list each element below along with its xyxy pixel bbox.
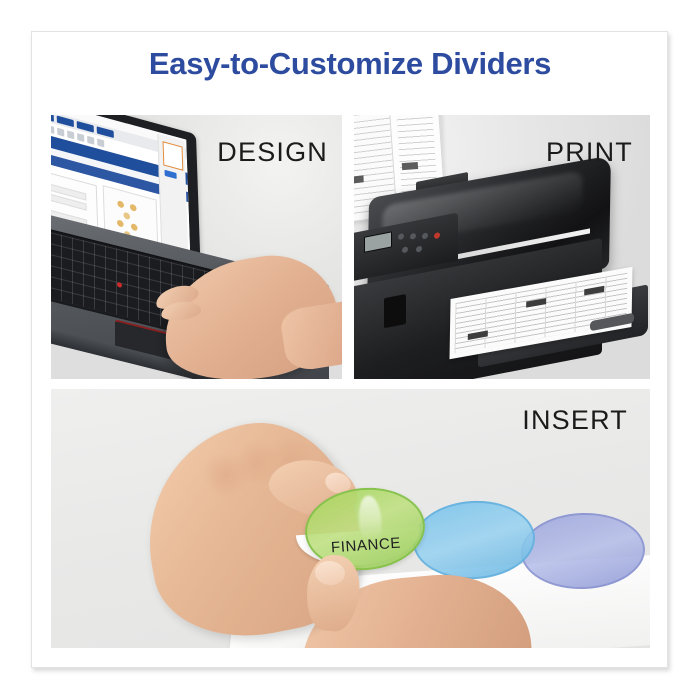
- ribbon-icon-7: [97, 138, 104, 147]
- panel-design: DESIGN: [51, 115, 342, 379]
- panel-label-print: PRINT: [546, 137, 633, 168]
- ribbon-icon-5: [77, 133, 84, 142]
- ribbon-icon-4: [67, 130, 74, 139]
- control-button-1: [398, 233, 404, 240]
- printer-cartridge-slot: [384, 294, 406, 328]
- ribbon-icon-3: [57, 128, 64, 137]
- ribbon-icon-6: [87, 136, 94, 145]
- feed-paper-block-2: [402, 162, 418, 170]
- app-rail-button: [165, 170, 177, 179]
- panel-label-design: DESIGN: [217, 137, 328, 168]
- control-button-2: [410, 233, 416, 240]
- product-feature-card: Easy-to-Customize Dividers: [0, 0, 700, 700]
- control-button-5: [416, 246, 422, 253]
- app-page-thumbnail: [163, 141, 184, 171]
- trackpoint-nub-icon: [117, 282, 122, 288]
- lcd-display-icon: [364, 231, 392, 252]
- power-button-icon: [434, 232, 440, 239]
- panel-insert: FINANCE INSERT: [51, 389, 650, 648]
- control-button-4: [402, 246, 408, 253]
- app-tab-1: [51, 115, 54, 122]
- page-title: Easy-to-Customize Dividers: [0, 46, 700, 82]
- ribbon-icon-2: [51, 125, 54, 134]
- panel-print: PRINT: [354, 115, 650, 379]
- control-button-3: [422, 232, 428, 239]
- panel-label-insert: INSERT: [522, 405, 628, 436]
